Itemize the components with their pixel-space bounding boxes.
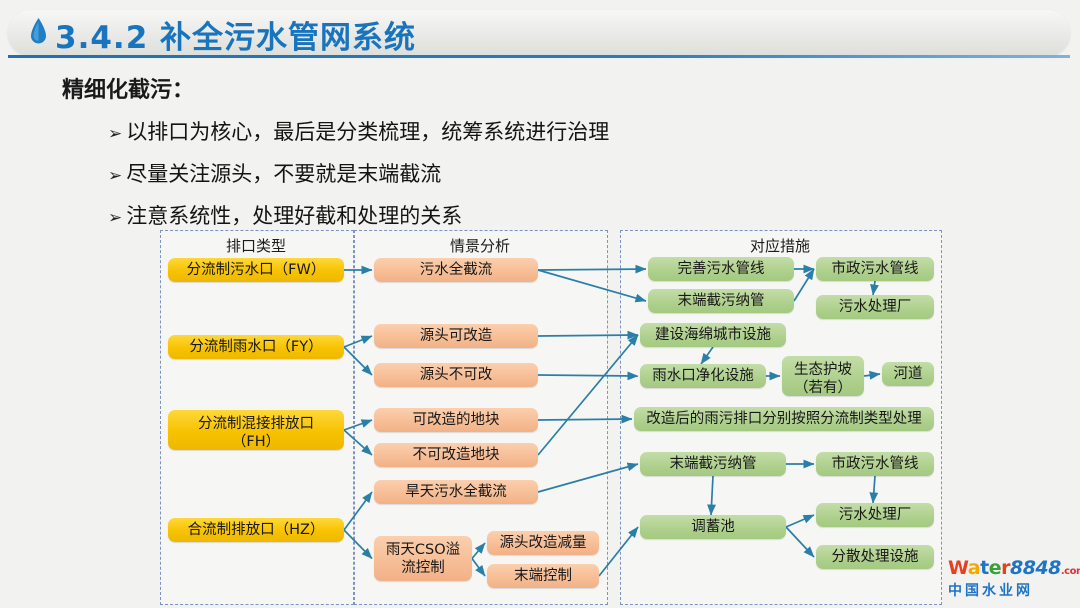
watermark: Water8848.com 中国水业网 xyxy=(948,557,1072,600)
bullet-marker-icon: ➢ xyxy=(108,166,122,186)
diagram-node-n-hz: 合流制排放口（HZ） xyxy=(168,518,344,542)
page-title: 3.4.2 补全污水管网系统 xyxy=(55,12,416,57)
node-label-line: 污水处理厂 xyxy=(839,507,912,524)
wm-r: r xyxy=(1001,557,1010,579)
diagram-node-n-fh: 分流制混接排放口（FH） xyxy=(168,410,344,450)
diagram-node-n-m4: 污水处理厂 xyxy=(816,295,934,319)
diagram-node-n-m1: 完善污水管线 xyxy=(648,257,794,281)
diagram-node-n-m14: 分散处理设施 xyxy=(816,545,934,569)
diagram-node-n-s9: 末端控制 xyxy=(487,564,599,588)
bullet-marker-icon: ➢ xyxy=(108,124,122,144)
bullet-text: 尽量关注源头，不要就是末端截流 xyxy=(126,162,441,186)
water-drop-icon xyxy=(30,18,47,46)
node-label-line: 末端控制 xyxy=(514,568,572,585)
bullet-item-2: ➢尽量关注源头，不要就是末端截流 xyxy=(108,158,441,188)
node-label-line: 污水全截流 xyxy=(420,262,493,279)
node-label-line: 旱天污水全截流 xyxy=(405,484,507,501)
node-label-line: 分流制混接排放口 xyxy=(198,416,314,432)
wm-number: 8848 xyxy=(1010,557,1061,579)
diagram-node-n-m11: 市政污水管线 xyxy=(816,452,934,476)
node-label-line: （FH） xyxy=(232,434,280,450)
node-label-line: （若有） xyxy=(794,380,852,396)
node-label-line: 市政污水管线 xyxy=(832,456,919,473)
diagram-node-n-s4: 可改造的地块 xyxy=(374,408,538,432)
diagram-node-n-m2: 末端截污纳管 xyxy=(648,289,794,313)
column-title-scenario: 情景分析 xyxy=(354,235,606,256)
node-label-line: 合流制排放口（HZ） xyxy=(188,522,325,539)
node-label-line: 市政污水管线 xyxy=(832,261,919,278)
diagram-node-n-m10: 末端截污纳管 xyxy=(640,452,786,476)
bullet-item-1: ➢以排口为核心，最后是分类梳理，统筹系统进行治理 xyxy=(108,116,609,146)
node-label-line: 源头改造减量 xyxy=(500,535,587,552)
node-label-line: 分流制雨水口（FY） xyxy=(189,339,322,356)
wm-e: e xyxy=(989,557,1001,579)
node-label-line: 雨水口净化设施 xyxy=(652,368,754,385)
diagram-node-n-s3: 源头不可改 xyxy=(374,363,538,387)
wm-w: W xyxy=(948,557,968,579)
diagram-node-n-m6: 雨水口净化设施 xyxy=(640,364,766,388)
diagram-node-n-fw: 分流制污水口（FW） xyxy=(168,258,344,282)
diagram-node-n-m9: 改造后的雨污排口分别按照分流制类型处理 xyxy=(634,407,934,431)
column-title-outlet-type: 排口类型 xyxy=(160,235,352,256)
diagram-node-n-s1: 污水全截流 xyxy=(374,258,538,282)
diagram-node-n-m13: 调蓄池 xyxy=(640,515,786,539)
wm-com: .com xyxy=(1061,566,1080,577)
node-label-line: 流控制 xyxy=(401,560,445,576)
diagram-node-n-m5: 建设海绵城市设施 xyxy=(640,323,786,347)
diagram-node-n-m8: 河道 xyxy=(882,362,934,386)
bullet-text: 以排口为核心，最后是分类梳理，统筹系统进行治理 xyxy=(126,120,609,144)
diagram-node-n-m12: 污水处理厂 xyxy=(816,503,934,527)
diagram-node-n-fy: 分流制雨水口（FY） xyxy=(168,335,344,359)
node-label-line: 建设海绵城市设施 xyxy=(655,327,771,344)
section-lead: 精细化截污： xyxy=(62,72,194,104)
diagram-node-n-m3: 市政污水管线 xyxy=(816,257,934,281)
node-label-line: 改造后的雨污排口分别按照分流制类型处理 xyxy=(646,411,922,428)
node-label-line: 分散处理设施 xyxy=(832,549,919,566)
wm-t: t xyxy=(980,557,989,579)
node-label-line: 源头不可改 xyxy=(420,367,493,384)
node-label-line: 河道 xyxy=(894,366,923,383)
diagram-node-n-s2: 源头可改造 xyxy=(374,324,538,348)
column-title-measures: 对应措施 xyxy=(620,235,940,256)
diagram-node-n-s7: 雨天CSO溢流控制 xyxy=(374,536,472,581)
node-label-line: 末端截污纳管 xyxy=(678,293,765,310)
node-label-line: 完善污水管线 xyxy=(678,261,765,278)
node-label-line: 调蓄池 xyxy=(691,519,735,536)
node-label-line: 可改造的地块 xyxy=(413,412,500,429)
diagram-node-n-m7: 生态护坡（若有） xyxy=(782,356,864,396)
node-label-line: 分流制污水口（FW） xyxy=(187,262,326,279)
diagram-node-n-s6: 旱天污水全截流 xyxy=(374,480,538,504)
wm-a: a xyxy=(968,557,980,579)
watermark-subtitle: 中国水业网 xyxy=(948,580,1072,600)
bullet-item-3: ➢注意系统性，处理好截和处理的关系 xyxy=(108,200,462,230)
node-label-line: 污水处理厂 xyxy=(839,299,912,316)
node-label-line: 不可改造地块 xyxy=(413,447,500,464)
node-label-line: 雨天CSO溢 xyxy=(386,542,460,558)
diagram-node-n-s5: 不可改造地块 xyxy=(374,443,538,467)
watermark-brand: Water8848.com xyxy=(948,557,1072,579)
node-label-line: 生态护坡 xyxy=(794,362,852,378)
node-label-line: 末端截污纳管 xyxy=(670,456,757,473)
bullet-marker-icon: ➢ xyxy=(108,208,122,228)
node-label-line: 源头可改造 xyxy=(420,328,493,345)
diagram-node-n-s8: 源头改造减量 xyxy=(487,531,599,555)
bullet-text: 注意系统性，处理好截和处理的关系 xyxy=(126,204,462,228)
